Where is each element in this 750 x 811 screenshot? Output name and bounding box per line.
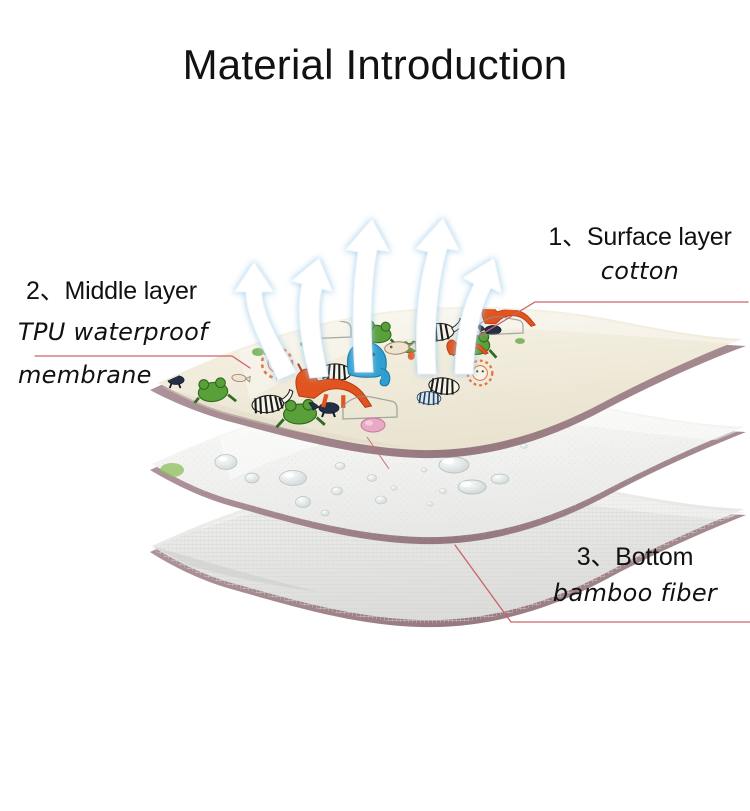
pink-motif: [361, 418, 385, 432]
leader-line-2-tip: [367, 437, 389, 469]
callout-2-heading: 2、Middle layer: [26, 276, 248, 307]
zebra-motif: [251, 389, 295, 415]
zebra-motif: [428, 376, 460, 396]
illustration-stage: Material Introduction: [0, 0, 750, 811]
callout-bottom-layer: 3、Bottom bamboo fiber: [528, 542, 742, 609]
water-droplets: [215, 397, 545, 516]
giraffe-motif: [445, 332, 488, 363]
zebra-motif: [421, 318, 464, 342]
callout-3-sub: bamboo fiber: [528, 579, 742, 609]
lion-motif: [468, 361, 493, 386]
callout-2-sub-line-2: membrane: [18, 358, 248, 393]
middle-layer-sheet: [140, 385, 750, 555]
page-title: Material Introduction: [0, 44, 750, 86]
material-layers-illustration: [0, 0, 750, 811]
callout-2-sub-line-1: TPU waterproof: [18, 315, 248, 350]
callout-1-heading: 1、Surface layer: [548, 223, 731, 251]
breathability-arrows: [234, 218, 502, 380]
callout-1-sub: cotton: [536, 257, 744, 287]
callout-3-heading: 3、Bottom: [577, 543, 694, 571]
giraffe-motif: [481, 297, 536, 334]
leader-line-1: [479, 302, 748, 336]
fish-motif: [384, 340, 416, 355]
lion-motif: [262, 348, 292, 378]
callout-middle-layer: 2、Middle layer TPU waterproof membrane: [18, 276, 248, 393]
giraffe-motif: [294, 356, 371, 412]
elephant-motif: [347, 342, 389, 386]
zebra-motif: [320, 360, 361, 382]
zebra-motif: [417, 391, 442, 406]
callout-surface-layer: 1、Surface layer cotton: [536, 222, 744, 287]
